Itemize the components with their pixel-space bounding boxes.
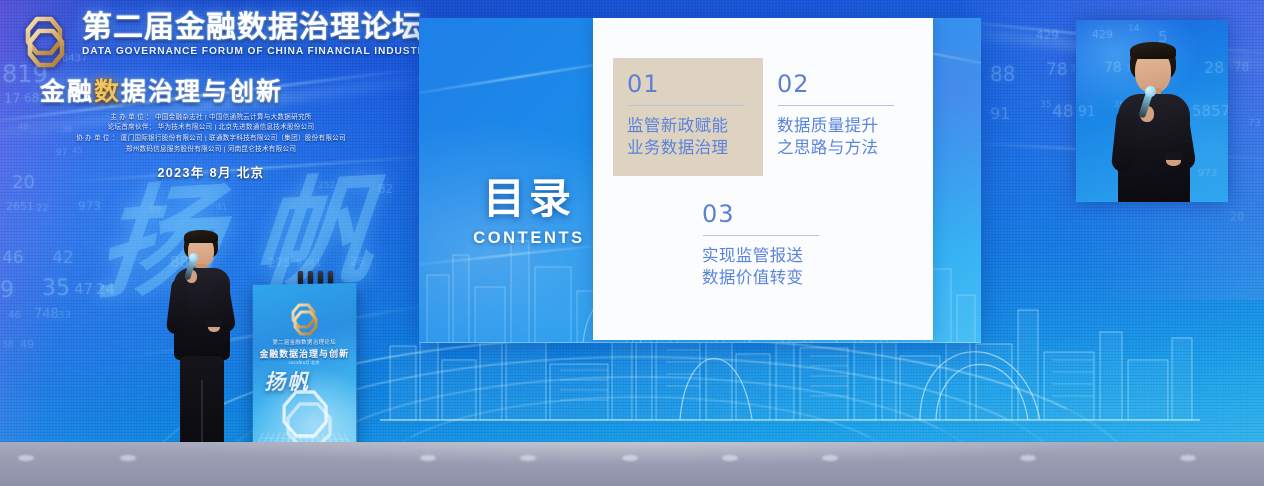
number-graphic: 78 bbox=[1234, 60, 1249, 74]
floor-light-spot bbox=[822, 455, 838, 461]
organizer-line: 主 办 单 位 ： 中国金融杂志社 | 中国信通院云计算与大数据研究所 bbox=[16, 113, 406, 124]
number-graphic: 73 bbox=[1248, 118, 1261, 129]
conference-stage-photo: 8196437176823154493697452026512297346429… bbox=[0, 0, 1264, 486]
forum-subtitle: 金融数据治理与创新 bbox=[40, 78, 408, 106]
standee-title: 第二届金融数据治理论坛 bbox=[253, 338, 357, 347]
speaker-closeup-feed: 429145783141289135485857973 bbox=[1076, 20, 1228, 202]
presenter-on-stage bbox=[158, 230, 244, 466]
number-graphic: 91 bbox=[990, 104, 1010, 123]
presenter-in-video-feed bbox=[1104, 42, 1204, 202]
number-graphic: 748 bbox=[34, 307, 59, 322]
number-graphic: 275 bbox=[268, 256, 291, 270]
forum-hexagon-logo bbox=[16, 13, 74, 71]
toc-item-01[interactable]: 01 监管新政赋能 业务数据治理 bbox=[613, 58, 763, 176]
number-graphic: 46 bbox=[2, 248, 24, 268]
toc-label-line: 之思路与方法 bbox=[777, 137, 903, 159]
organizer-credits: 主 办 单 位 ： 中国金融杂志社 | 中国信通院云计算与大数据研究所 论坛首席… bbox=[16, 113, 406, 156]
floor-light-spot bbox=[1020, 455, 1036, 461]
toc-label-line: 数据质量提升 bbox=[777, 115, 903, 137]
toc-label-line: 业务数据治理 bbox=[627, 137, 753, 159]
toc-divider bbox=[628, 105, 744, 106]
toc-label: 实现监管报送 数据价值转变 bbox=[702, 245, 828, 290]
number-graphic: 429 bbox=[1092, 28, 1113, 41]
number-graphic: 78 bbox=[1046, 60, 1068, 80]
organizer-line: 论坛首席伙伴： 华为技术有限公司 | 北京先进数通信息技术股份公司 bbox=[16, 123, 406, 134]
toc-item-03[interactable]: 03 实现监管报送 数据价值转变 bbox=[688, 188, 838, 306]
toc-item-grid: 01 监管新政赋能 业务数据治理 02 数据质量提升 之思路与方法 bbox=[613, 58, 913, 306]
number-graphic: 22 bbox=[36, 203, 49, 214]
organizer-line: 郑州数码信息服务股份有限公司 | 河南昆仑技术有限公司 bbox=[16, 145, 406, 156]
number-graphic: 88 bbox=[990, 62, 1015, 86]
number-graphic: 20 bbox=[1230, 210, 1244, 223]
toc-label-line: 实现监管报送 bbox=[702, 245, 828, 267]
floor-light-spot bbox=[18, 455, 34, 461]
number-graphic: 252 bbox=[318, 181, 335, 191]
number-graphic: 41 bbox=[216, 203, 227, 213]
subtitle-part-2: 据治理与创新 bbox=[121, 77, 283, 106]
toc-label: 监管新政赋能 业务数据治理 bbox=[627, 115, 753, 160]
floor-light-spot bbox=[622, 455, 638, 461]
toc-item-02[interactable]: 02 数据质量提升 之思路与方法 bbox=[763, 58, 913, 176]
number-graphic: 9341 bbox=[296, 258, 321, 269]
toc-divider bbox=[703, 235, 819, 236]
toc-label-line: 监管新政赋能 bbox=[627, 115, 753, 137]
number-graphic: 9 bbox=[0, 278, 14, 303]
toc-number: 02 bbox=[777, 72, 903, 96]
floor-light-spot bbox=[120, 455, 136, 461]
toc-number: 01 bbox=[627, 72, 753, 96]
toc-label: 数据质量提升 之思路与方法 bbox=[777, 115, 903, 160]
forum-key-visual: 第二届金融数据治理论坛 DATA GOVERNANCE FORUM OF CHI… bbox=[8, 4, 416, 170]
table-of-contents-card: 01 监管新政赋能 业务数据治理 02 数据质量提升 之思路与方法 bbox=[593, 18, 933, 340]
number-graphic: 14 bbox=[1128, 24, 1139, 34]
number-graphic: 38 bbox=[2, 340, 13, 350]
number-graphic: 35 bbox=[42, 276, 70, 301]
toc-number: 03 bbox=[702, 202, 828, 226]
number-graphic: 28 bbox=[1204, 58, 1224, 77]
number-graphic: 33 bbox=[58, 310, 71, 321]
subtitle-highlight-char: 数 bbox=[94, 77, 121, 106]
number-graphic: 28 bbox=[350, 255, 364, 268]
presentation-slide: 目录 CONTENTS 01 监管新政赋能 业务数据治理 02 数据质量 bbox=[419, 18, 981, 343]
number-graphic: 47 bbox=[74, 280, 93, 298]
number-graphic: 42 bbox=[52, 248, 74, 268]
forum-title-en: DATA GOVERNANCE FORUM OF CHINA FINANCIAL… bbox=[82, 46, 433, 57]
floor-light-spot bbox=[420, 455, 436, 461]
number-graphic: 91 bbox=[1078, 104, 1096, 120]
subtitle-part-1: 金融 bbox=[40, 77, 94, 106]
number-graphic: 89 bbox=[150, 205, 161, 215]
floor-light-spot bbox=[1180, 455, 1196, 461]
number-graphic: 48 bbox=[1052, 102, 1074, 122]
rail-light bbox=[298, 271, 303, 285]
number-graphic: 46 bbox=[8, 310, 21, 321]
number-graphic: 35 bbox=[1040, 100, 1051, 110]
number-graphic: 973 bbox=[78, 199, 101, 213]
toc-divider bbox=[778, 105, 894, 106]
stage-floor bbox=[0, 442, 1264, 486]
forum-hexagon-logo bbox=[286, 302, 322, 336]
forum-date-location: 2023年 8月 北京 bbox=[16, 162, 406, 181]
forum-title-cn: 第二届金融数据治理论坛 bbox=[82, 12, 433, 44]
presentation-clicker bbox=[206, 320, 222, 327]
number-graphic: 24 bbox=[96, 280, 115, 298]
number-graphic: 2651 bbox=[6, 200, 34, 213]
floor-light-spot bbox=[722, 455, 738, 461]
number-graphic: 49 bbox=[20, 338, 34, 351]
organizer-line: 协 办 单 位 ： 厦门国际银行股份有限公司 | 联通数字科技有限公司（集团）股… bbox=[16, 134, 406, 145]
number-graphic: 82 bbox=[378, 182, 393, 196]
floor-light-spot bbox=[520, 455, 536, 461]
toc-label-line: 数据价值转变 bbox=[702, 267, 828, 289]
number-graphic: 429 bbox=[1036, 28, 1059, 42]
standee-subtitle: 金融数据治理与创新 bbox=[253, 347, 357, 361]
